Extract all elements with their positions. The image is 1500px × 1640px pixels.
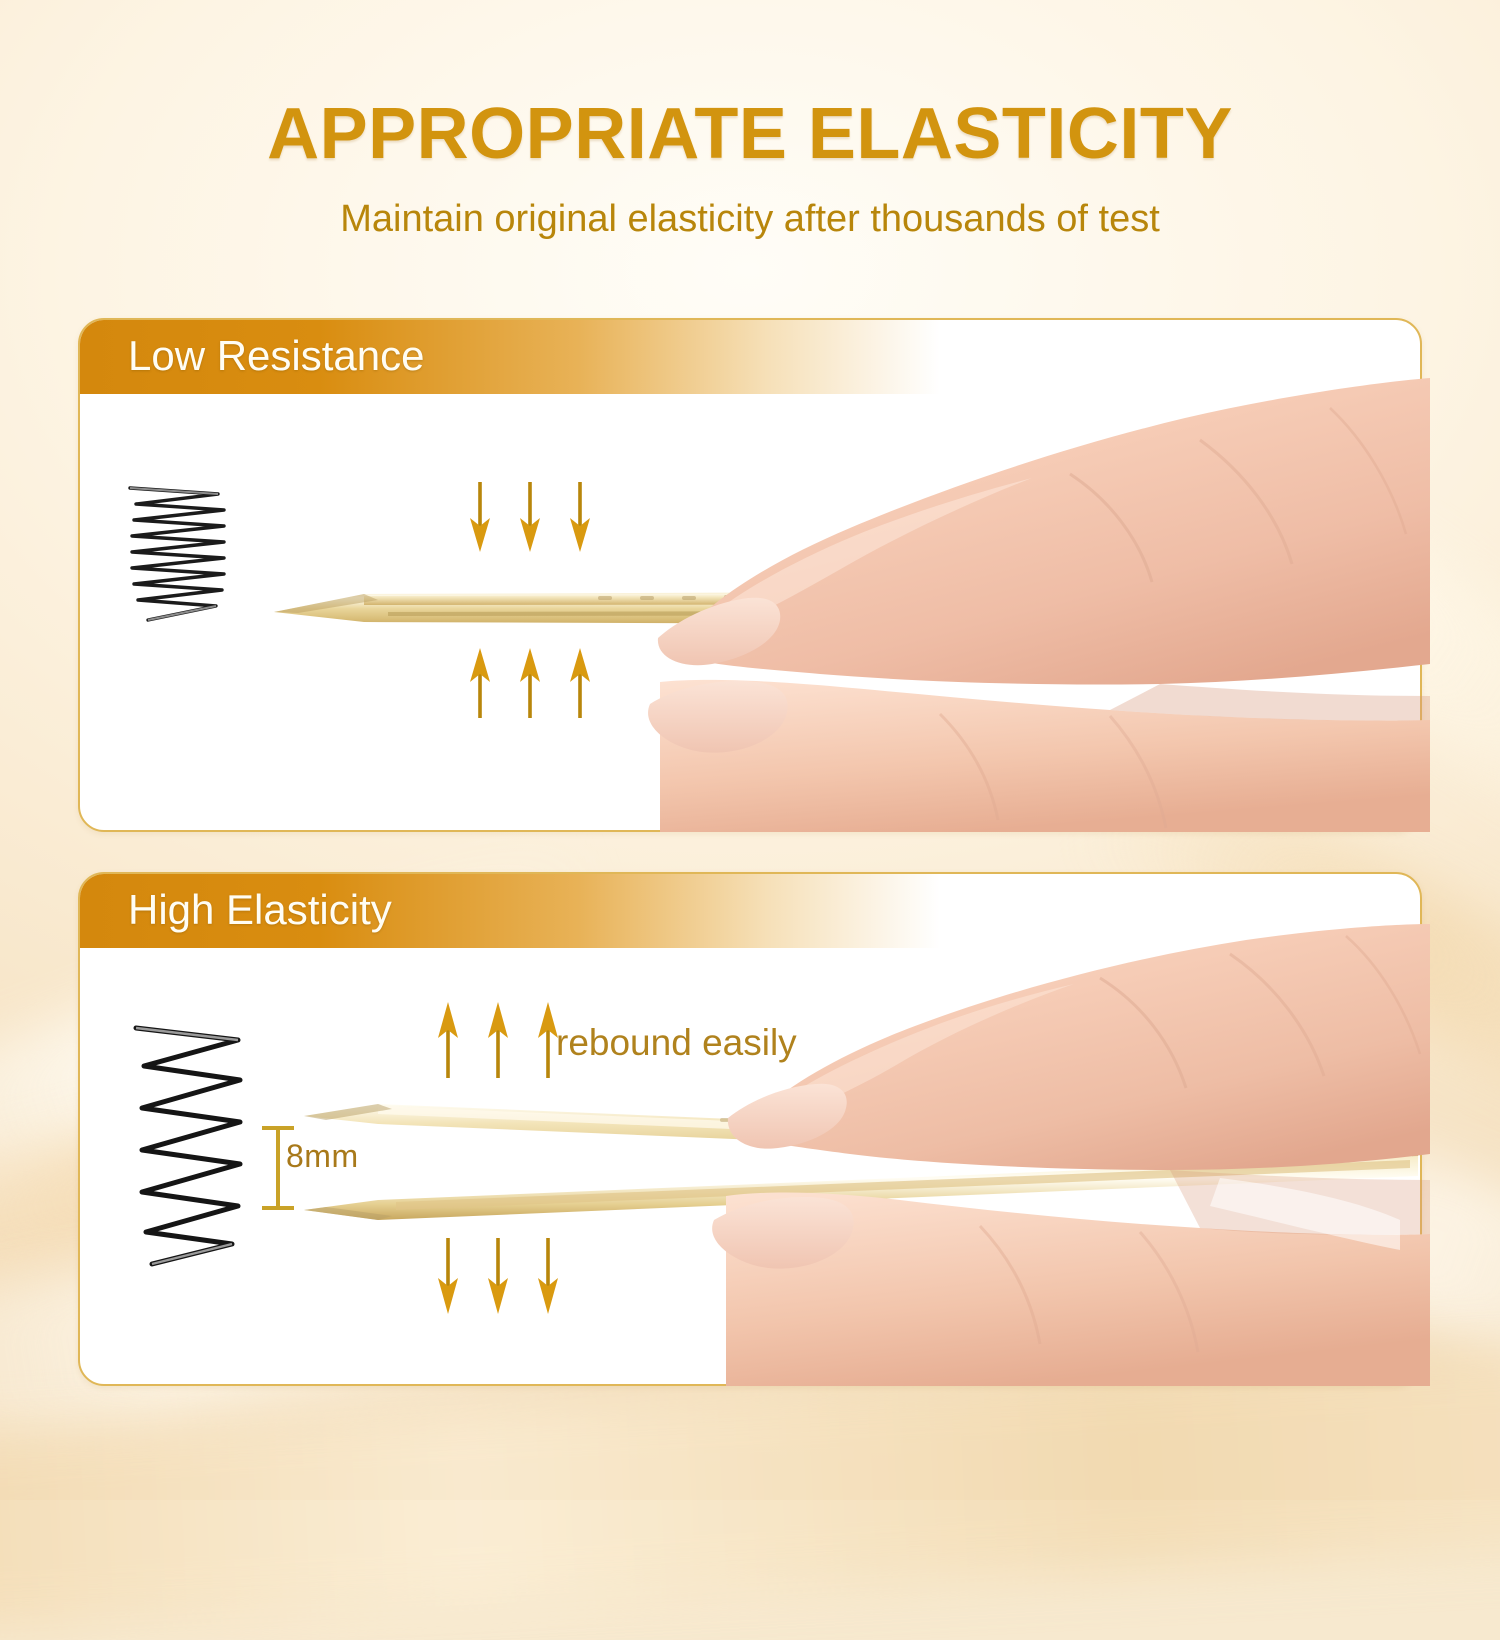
gap-measure-label: 8mm [286,1138,359,1175]
down-arrows-high [436,1238,560,1316]
arrow-down-icon [486,1238,510,1316]
hand-gripping-tweezers [700,920,1430,1386]
arrow-down-icon [468,482,492,554]
arrow-down-icon [536,1238,560,1316]
hand-gripping-tweezers [640,352,1430,832]
badge-label: High Elasticity [128,886,392,934]
arrow-up-icon [486,1000,510,1078]
up-arrows-high [436,1000,560,1078]
arrow-down-icon [568,482,592,554]
header: APPROPRIATE ELASTICITY Maintain original… [0,0,1500,238]
down-arrows-low [468,482,592,554]
page-title: APPROPRIATE ELASTICITY [0,98,1500,170]
compressed-spring-icon [120,480,250,630]
expanded-spring-icon [118,1020,263,1270]
page-subtitle: Maintain original elasticity after thous… [0,200,1500,238]
badge-label: Low Resistance [128,332,424,380]
arrow-down-icon [518,482,542,554]
arrow-up-icon [436,1000,460,1078]
arrow-down-icon [436,1238,460,1316]
rebound-annotation: rebound easily [556,1022,797,1064]
